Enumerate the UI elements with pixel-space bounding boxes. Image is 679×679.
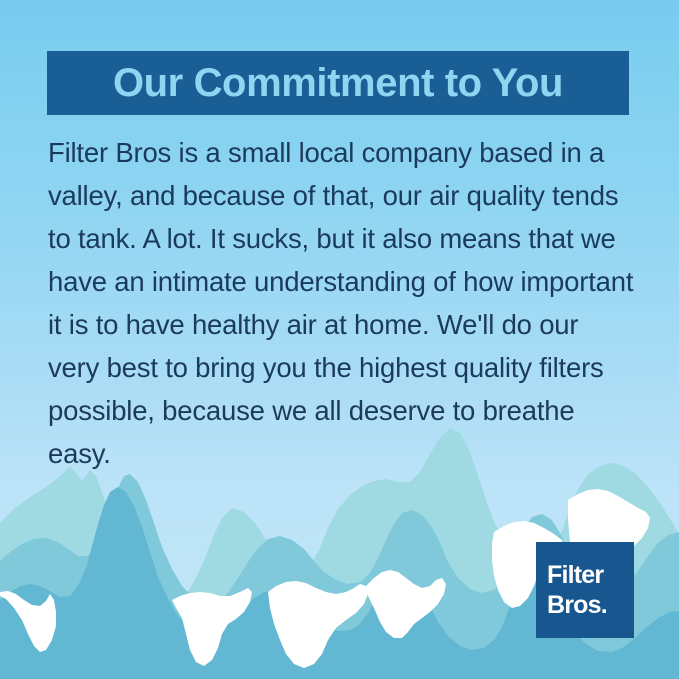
body-paragraph: Filter Bros is a small local company bas…	[48, 131, 636, 475]
commitment-graphic: Our Commitment to You Filter Bros is a s…	[0, 0, 679, 679]
logo-line-two: Bros.	[547, 590, 607, 620]
filter-bros-logo: Filter Bros.	[536, 542, 634, 638]
header-banner: Our Commitment to You	[47, 51, 629, 115]
page-title: Our Commitment to You	[113, 63, 563, 103]
logo-line-one: Filter	[547, 560, 603, 590]
